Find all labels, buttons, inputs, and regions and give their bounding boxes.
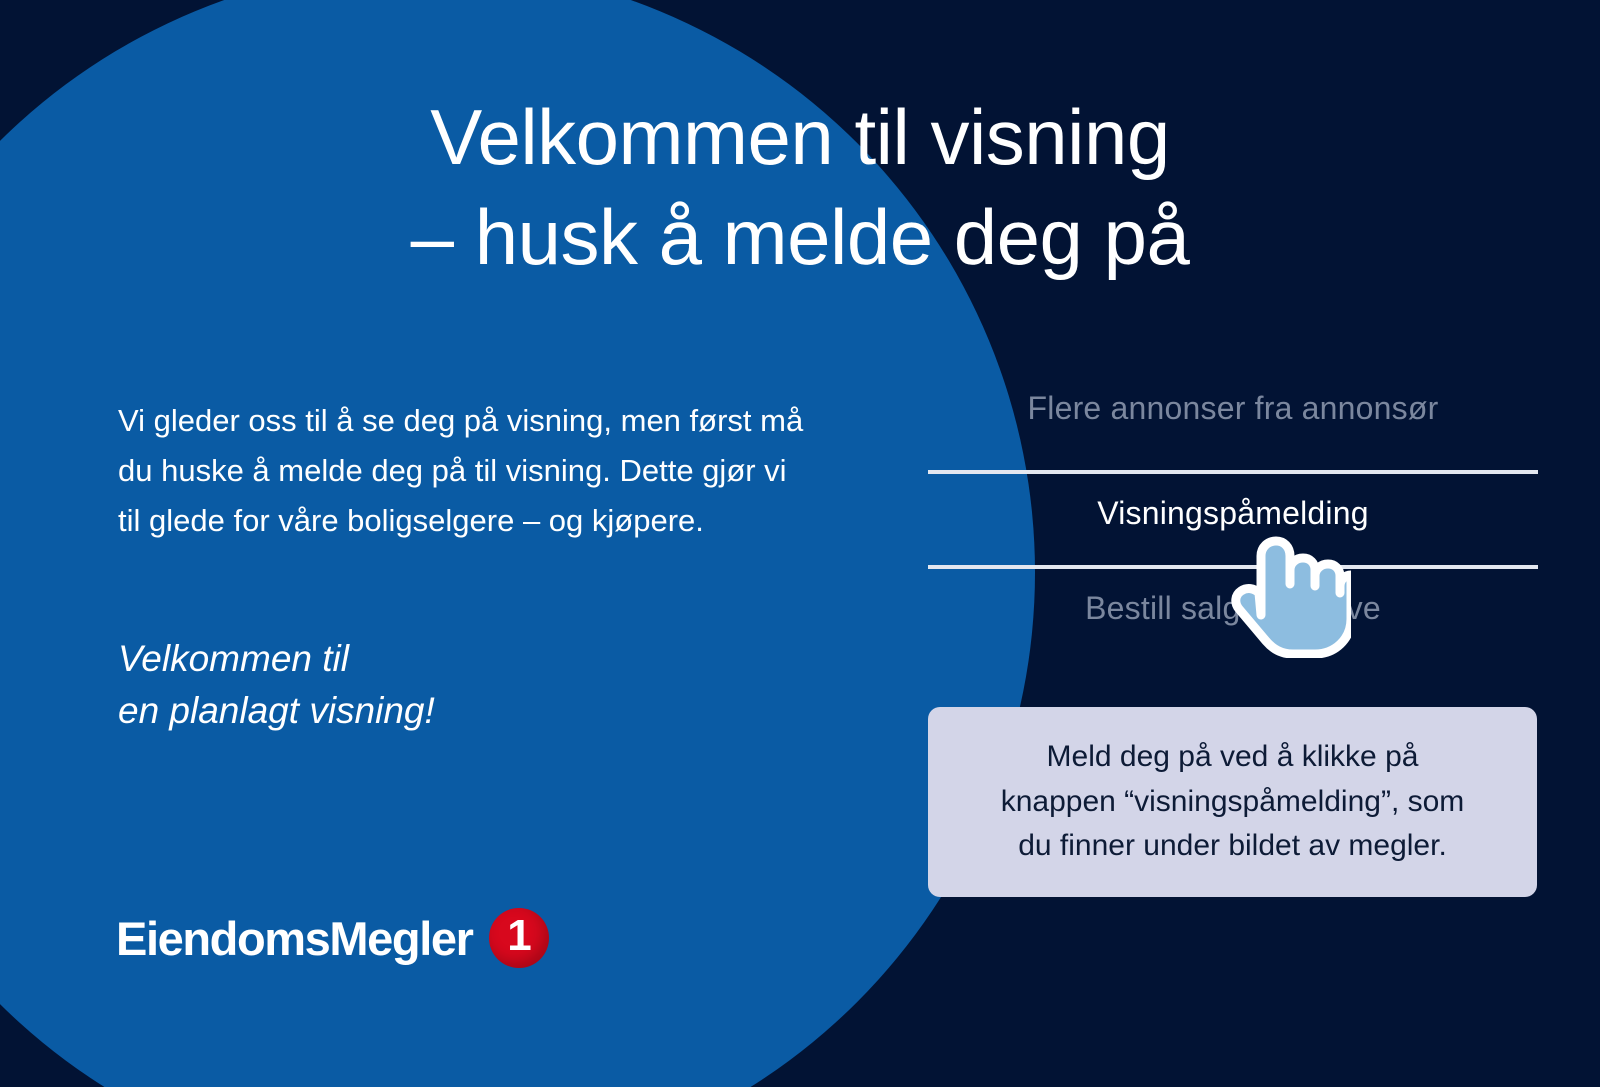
poster-canvas: Velkommen til visning – husk å melde deg… xyxy=(0,0,1600,1087)
left-content-column: Vi gleder oss til å se deg på visning, m… xyxy=(118,396,888,738)
menu-item-bestill-salgsoppgave[interactable]: Bestill salgsoppgave xyxy=(928,592,1538,624)
menu-divider-top xyxy=(928,470,1538,474)
instruction-tooltip: Meld deg på ved å klikke på knappen “vis… xyxy=(928,707,1537,897)
menu-item-visningspamelding[interactable]: Visningspåmelding xyxy=(928,497,1538,529)
logo-badge-circle-icon: 1 xyxy=(489,908,549,968)
eiendomsmegler-logo: EiendomsMegler 1 xyxy=(116,908,549,968)
menu-item-flere-annonser[interactable]: Flere annonser fra annonsør xyxy=(928,392,1538,424)
tagline-text: Velkommen til en planlagt visning! xyxy=(118,547,888,738)
body-paragraph: Vi gleder oss til å se deg på visning, m… xyxy=(118,396,888,547)
page-title: Velkommen til visning – husk å melde deg… xyxy=(0,88,1600,288)
menu-divider-bottom xyxy=(928,565,1538,569)
tooltip-text: Meld deg på ved å klikke på knappen “vis… xyxy=(977,735,1489,868)
logo-badge-number: 1 xyxy=(507,914,531,958)
logo-wordmark: EiendomsMegler xyxy=(116,915,473,962)
